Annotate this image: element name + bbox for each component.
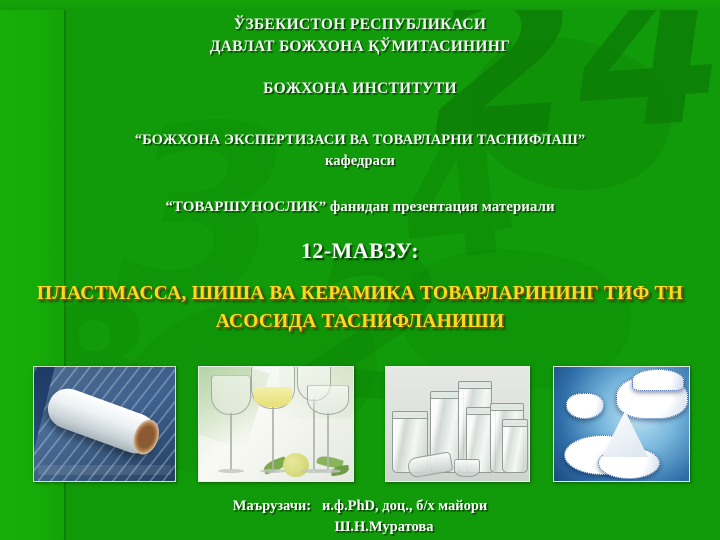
image-ceramic-dishware	[553, 366, 690, 482]
organization-line-1: ЎЗБЕКИСТОН РЕСПУБЛИКАСИ	[0, 14, 720, 36]
subject-line: “ТОВАРШУНОСЛИК” фанидан презентация мате…	[0, 199, 720, 216]
department-suffix: кафедраси	[0, 151, 720, 172]
image-glass-jars	[385, 366, 530, 482]
image-strip	[0, 366, 720, 484]
presenter-credentials: и.ф.PhD, доц., б/х майори	[322, 498, 487, 514]
page-title: ПЛАСТМАССА, ШИША ВА КЕРАМИКА ТОВАРЛАРИНИ…	[0, 280, 720, 335]
institute-heading: БОЖХОНА ИНСТИТУТИ	[0, 80, 720, 98]
presentation-slide: 3 8 2 24 4 ЎЗБЕКИСТОН РЕСПУБЛИКАСИ ДАВЛА…	[0, 0, 720, 540]
department-block: “БОЖХОНА ЭКСПЕРТИЗАСИ ВА ТОВАРЛАРНИ ТАСН…	[0, 130, 720, 172]
image-1-watermark-text	[38, 465, 171, 475]
presenter-block: Маърузачи: и.ф.PhD, доц., б/х майори Ш.Н…	[0, 496, 720, 538]
image-wine-glasses	[198, 366, 354, 482]
organization-line-2: ДАВЛАТ БОЖХОНА ҚЎМИТАСИНИНГ	[0, 36, 720, 58]
presenter-line-1: Маърузачи: и.ф.PhD, доц., б/х майори	[0, 496, 720, 517]
department-name: “БОЖХОНА ЭКСПЕРТИЗАСИ ВА ТОВАРЛАРНИ ТАСН…	[0, 130, 720, 151]
top-sheen	[0, 0, 720, 10]
organization-heading: ЎЗБЕКИСТОН РЕСПУБЛИКАСИ ДАВЛАТ БОЖХОНА Қ…	[0, 14, 720, 58]
image-plastic-film-roll	[33, 366, 176, 482]
presenter-label: Маърузачи:	[233, 498, 311, 514]
presenter-name: Ш.Н.Муратова	[0, 517, 720, 538]
topic-number-label: 12-МАВЗУ:	[0, 238, 720, 264]
